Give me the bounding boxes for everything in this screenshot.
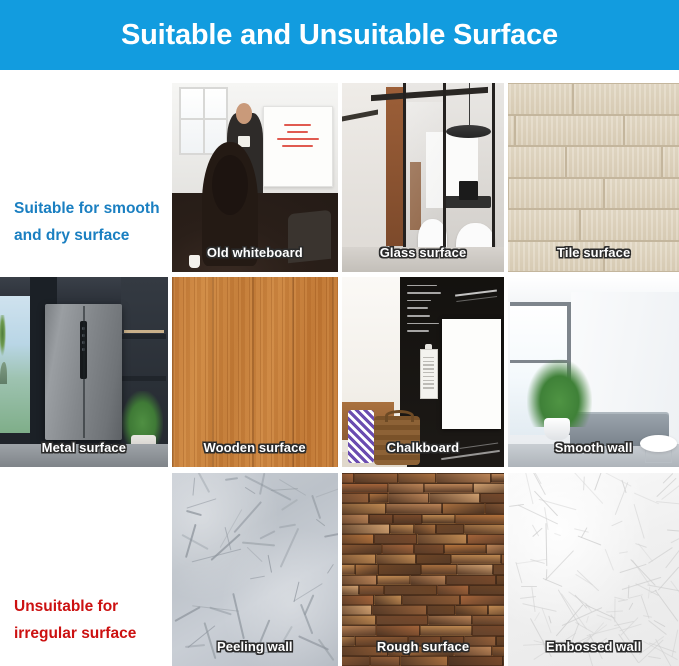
header-banner: Suitable and Unsuitable Surface — [0, 0, 679, 70]
row-suitable-1: Old whiteboard G — [0, 83, 679, 272]
cell-smooth-wall: Smooth wall — [508, 277, 679, 467]
caption-chalkboard: Chalkboard — [387, 440, 460, 455]
scene-metal-surface — [0, 277, 168, 467]
scene-tile-surface — [508, 83, 679, 272]
cell-glass-surface: Glass surface — [342, 83, 505, 272]
caption-glass-surface: Glass surface — [380, 245, 467, 260]
cell-chalkboard: Chalkboard — [342, 277, 505, 467]
cell-metal-surface: Metal surface — [0, 277, 168, 467]
cell-old-whiteboard: Old whiteboard — [172, 83, 338, 272]
caption-smooth-wall: Smooth wall — [555, 440, 633, 455]
cell-rough-surface: Rough surface — [342, 473, 505, 666]
caption-tile-surface: Tile surface — [557, 245, 630, 260]
scene-rough-surface — [342, 473, 505, 666]
caption-peeling-wall: Peeling wall — [217, 639, 293, 654]
scene-chalkboard — [342, 277, 505, 467]
page-title: Suitable and Unsuitable Surface — [121, 19, 558, 52]
scene-smooth-wall — [508, 277, 679, 467]
row-suitable-2: Metal surface Wooden surface Chalkboa — [0, 277, 679, 467]
cell-peeling-wall: Peeling wall — [172, 473, 338, 666]
scene-peeling-wall — [172, 473, 338, 666]
cell-embossed-wall: Embossed wall — [508, 473, 679, 666]
scene-glass-surface — [342, 83, 505, 272]
scene-old-whiteboard — [172, 83, 338, 272]
row-unsuitable: Peeling wall Rough surface Embossed wall — [0, 473, 679, 666]
caption-wooden-surface: Wooden surface — [203, 440, 305, 455]
caption-embossed-wall: Embossed wall — [546, 639, 641, 654]
caption-rough-surface: Rough surface — [377, 639, 469, 654]
cell-wooden-surface: Wooden surface — [172, 277, 338, 467]
caption-metal-surface: Metal surface — [42, 440, 126, 455]
caption-old-whiteboard: Old whiteboard — [207, 245, 303, 260]
cell-tile-surface: Tile surface — [508, 83, 679, 272]
scene-embossed-wall — [508, 473, 679, 666]
scene-wooden-surface — [172, 277, 338, 467]
surface-grid: Suitable for smooth and dry surface Unsu… — [0, 70, 679, 666]
